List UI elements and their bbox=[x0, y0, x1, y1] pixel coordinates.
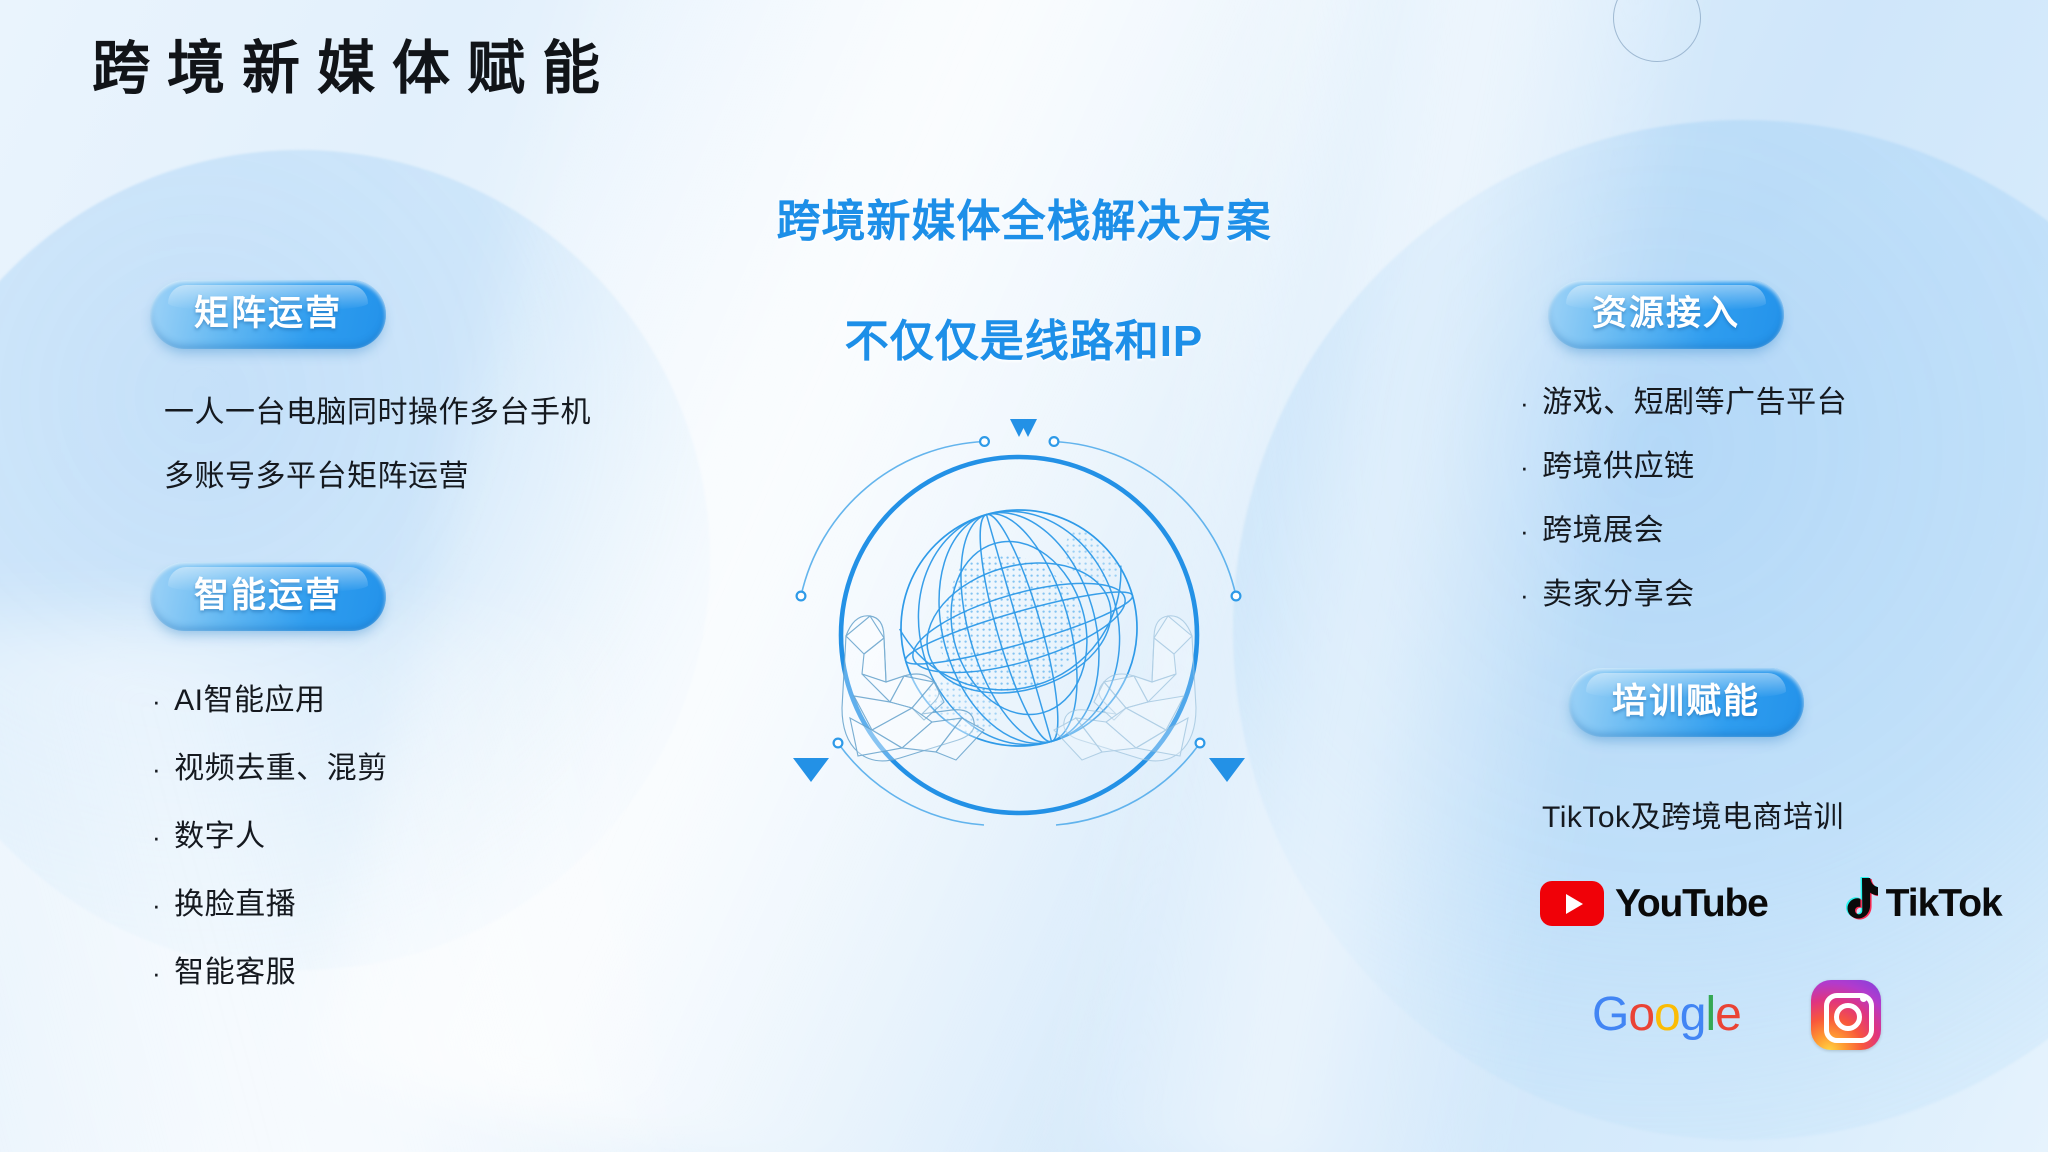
background-circle-left bbox=[0, 150, 710, 970]
tiktok-wordmark: TikTok bbox=[1886, 882, 2002, 926]
google-letter: g bbox=[1680, 988, 1706, 1041]
bullet-dot-icon: · bbox=[152, 756, 161, 782]
list-item-label: AI智能应用 bbox=[174, 686, 325, 716]
training-caption: TikTok及跨境电商培训 bbox=[1542, 792, 1844, 836]
left-group1-line-1: 一人一台电脑同时操作多台手机 bbox=[164, 398, 591, 428]
google-letter: e bbox=[1715, 988, 1741, 1041]
youtube-play-icon bbox=[1540, 881, 1604, 926]
list-item: · 跨境展会 bbox=[1520, 516, 1664, 546]
list-item-label: 数字人 bbox=[174, 822, 266, 852]
list-item: · 跨境供应链 bbox=[1520, 452, 1695, 482]
list-item: · 数字人 bbox=[152, 822, 266, 852]
list-item-label: 卖家分享会 bbox=[1542, 580, 1695, 610]
google-letter: l bbox=[1705, 988, 1715, 1041]
list-item: · 换脸直播 bbox=[152, 890, 296, 920]
bullet-dot-icon: · bbox=[1520, 518, 1529, 544]
bullet-dot-icon: · bbox=[152, 688, 161, 714]
instagram-logo bbox=[1811, 980, 1881, 1050]
list-item: · 卖家分享会 bbox=[1520, 580, 1695, 610]
pill-smart-operations[interactable]: 智能运营 bbox=[150, 562, 386, 631]
center-heading-primary: 跨境新媒体全栈解决方案 bbox=[0, 185, 2048, 249]
slide-root: 跨境新媒体赋能 跨境新媒体全栈解决方案 不仅仅是线路和IP bbox=[0, 0, 2048, 1152]
list-item-label: 跨境展会 bbox=[1542, 516, 1664, 546]
left-group1-line-2: 多账号多平台矩阵运营 bbox=[164, 462, 469, 492]
tiktok-note-icon bbox=[1834, 876, 1878, 931]
list-item-label: 视频去重、混剪 bbox=[174, 754, 388, 784]
list-item: · 视频去重、混剪 bbox=[152, 754, 388, 784]
list-item: · AI智能应用 bbox=[152, 686, 326, 716]
instagram-dot-icon bbox=[1860, 995, 1867, 1002]
decorative-ring-outline bbox=[1613, 0, 1701, 62]
list-item-label: 智能客服 bbox=[174, 958, 296, 988]
bullet-dot-icon: · bbox=[1520, 582, 1529, 608]
list-item-label: 游戏、短剧等广告平台 bbox=[1542, 388, 1847, 418]
youtube-wordmark: YouTube bbox=[1615, 882, 1768, 926]
pill-matrix-operations[interactable]: 矩阵运营 bbox=[150, 280, 386, 349]
page-title: 跨境新媒体赋能 bbox=[92, 40, 617, 98]
logo-row-bottom: Google bbox=[1592, 980, 1881, 1050]
tiktok-logo: TikTok bbox=[1834, 876, 2002, 931]
background-sheen-c bbox=[0, 620, 660, 1152]
youtube-logo: YouTube bbox=[1540, 881, 1768, 926]
google-letter: G bbox=[1592, 988, 1628, 1041]
pill-resource-access[interactable]: 资源接入 bbox=[1548, 280, 1784, 349]
google-letter: o bbox=[1654, 988, 1680, 1041]
list-item: · 游戏、短剧等广告平台 bbox=[1520, 388, 1847, 418]
logo-row-top: YouTube TikTok bbox=[1540, 876, 2002, 931]
bullet-dot-icon: · bbox=[152, 960, 161, 986]
bullet-dot-icon: · bbox=[1520, 390, 1529, 416]
bullet-dot-icon: · bbox=[1520, 454, 1529, 480]
google-letter: o bbox=[1628, 988, 1654, 1041]
globe-in-hands-illustration bbox=[784, 400, 1254, 870]
pill-training-empowerment[interactable]: 培训赋能 bbox=[1568, 668, 1804, 737]
list-item-label: 跨境供应链 bbox=[1542, 452, 1695, 482]
google-logo: Google bbox=[1592, 991, 1741, 1039]
list-item: · 智能客服 bbox=[152, 958, 296, 988]
bullet-dot-icon: · bbox=[152, 892, 161, 918]
list-item-label: 换脸直播 bbox=[174, 890, 296, 920]
bullet-dot-icon: · bbox=[152, 824, 161, 850]
